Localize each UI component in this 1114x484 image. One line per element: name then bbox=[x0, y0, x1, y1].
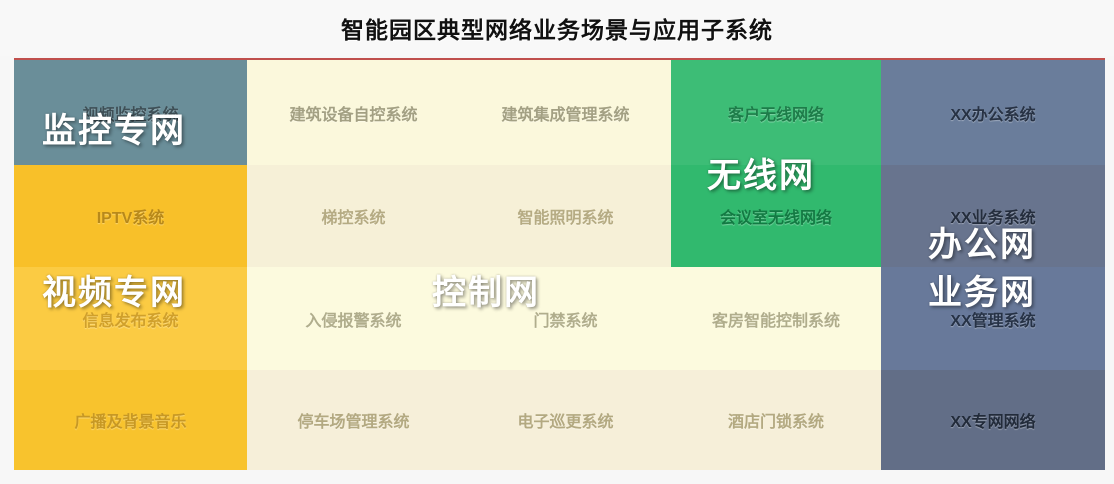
diagram-page: 智能园区典型网络业务场景与应用子系统 视频监控系统 IPTV系统 信息发布系统 … bbox=[0, 0, 1114, 484]
cell-label: 客户无线网络 bbox=[728, 101, 824, 125]
cell-info-release[interactable]: 信息发布系统 bbox=[14, 267, 247, 370]
cell-label: 客房智能控制系统 bbox=[712, 307, 840, 331]
cell-electronic-patrol[interactable]: 电子巡更系统 bbox=[460, 370, 671, 470]
cell-label: 停车场管理系统 bbox=[297, 408, 409, 432]
cell-label: XX办公系统 bbox=[950, 101, 1035, 125]
cell-label: 建筑集成管理系统 bbox=[501, 101, 629, 125]
cell-label: 会议室无线网络 bbox=[720, 204, 832, 228]
integration-column: 建筑集成管理系统 智能照明系统 门禁系统 电子巡更系统 bbox=[460, 60, 671, 466]
cell-label: 门禁系统 bbox=[533, 307, 597, 331]
wireless-column: 客户无线网络 会议室无线网络 客房智能控制系统 酒店门锁系统 bbox=[671, 60, 881, 466]
cell-access-control[interactable]: 门禁系统 bbox=[460, 267, 671, 370]
cell-label: 入侵报警系统 bbox=[305, 307, 401, 331]
cell-label: 酒店门锁系统 bbox=[728, 408, 824, 432]
cell-label: XX专网网络 bbox=[950, 408, 1035, 432]
cell-label: XX业务系统 bbox=[950, 204, 1035, 228]
page-title: 智能园区典型网络业务场景与应用子系统 bbox=[341, 11, 773, 45]
cell-management-system[interactable]: XX管理系统 bbox=[881, 267, 1105, 370]
cell-label: IPTV系统 bbox=[97, 204, 165, 228]
cell-iptv[interactable]: IPTV系统 bbox=[14, 165, 247, 267]
cell-video-surveillance[interactable]: 视频监控系统 bbox=[14, 60, 247, 165]
building-control-column: 建筑设备自控系统 梯控系统 入侵报警系统 停车场管理系统 bbox=[247, 60, 460, 466]
matrix-grid: 视频监控系统 IPTV系统 信息发布系统 广播及背景音乐 建筑设备自控系统 梯控… bbox=[14, 58, 1105, 468]
cell-business-system[interactable]: XX业务系统 bbox=[881, 165, 1105, 267]
video-column: 视频监控系统 IPTV系统 信息发布系统 广播及背景音乐 bbox=[14, 60, 247, 466]
cell-parking-management[interactable]: 停车场管理系统 bbox=[247, 370, 460, 470]
office-column: XX办公系统 XX业务系统 XX管理系统 XX专网网络 bbox=[881, 60, 1105, 466]
cell-building-automation[interactable]: 建筑设备自控系统 bbox=[247, 60, 460, 165]
cell-label: 信息发布系统 bbox=[82, 307, 178, 331]
cell-intrusion-alarm[interactable]: 入侵报警系统 bbox=[247, 267, 460, 370]
cell-meeting-wireless[interactable]: 会议室无线网络 bbox=[671, 165, 881, 267]
cell-guest-wireless[interactable]: 客户无线网络 bbox=[671, 60, 881, 165]
cell-label: 视频监控系统 bbox=[82, 101, 178, 125]
cell-hotel-doorlock[interactable]: 酒店门锁系统 bbox=[671, 370, 881, 470]
cell-broadcast-music[interactable]: 广播及背景音乐 bbox=[14, 370, 247, 470]
cell-label: 建筑设备自控系统 bbox=[289, 101, 417, 125]
cell-smart-lighting[interactable]: 智能照明系统 bbox=[460, 165, 671, 267]
cell-guestroom-control[interactable]: 客房智能控制系统 bbox=[671, 267, 881, 370]
cell-office-system[interactable]: XX办公系统 bbox=[881, 60, 1105, 165]
cell-label: 梯控系统 bbox=[321, 204, 385, 228]
cell-elevator-control[interactable]: 梯控系统 bbox=[247, 165, 460, 267]
cell-label: 广播及背景音乐 bbox=[74, 408, 186, 432]
cell-building-integration[interactable]: 建筑集成管理系统 bbox=[460, 60, 671, 165]
cell-private-network[interactable]: XX专网网络 bbox=[881, 370, 1105, 470]
cell-label: 电子巡更系统 bbox=[517, 408, 613, 432]
title-bar: 智能园区典型网络业务场景与应用子系统 bbox=[0, 0, 1114, 56]
cell-label: 智能照明系统 bbox=[517, 204, 613, 228]
cell-label: XX管理系统 bbox=[950, 307, 1035, 331]
